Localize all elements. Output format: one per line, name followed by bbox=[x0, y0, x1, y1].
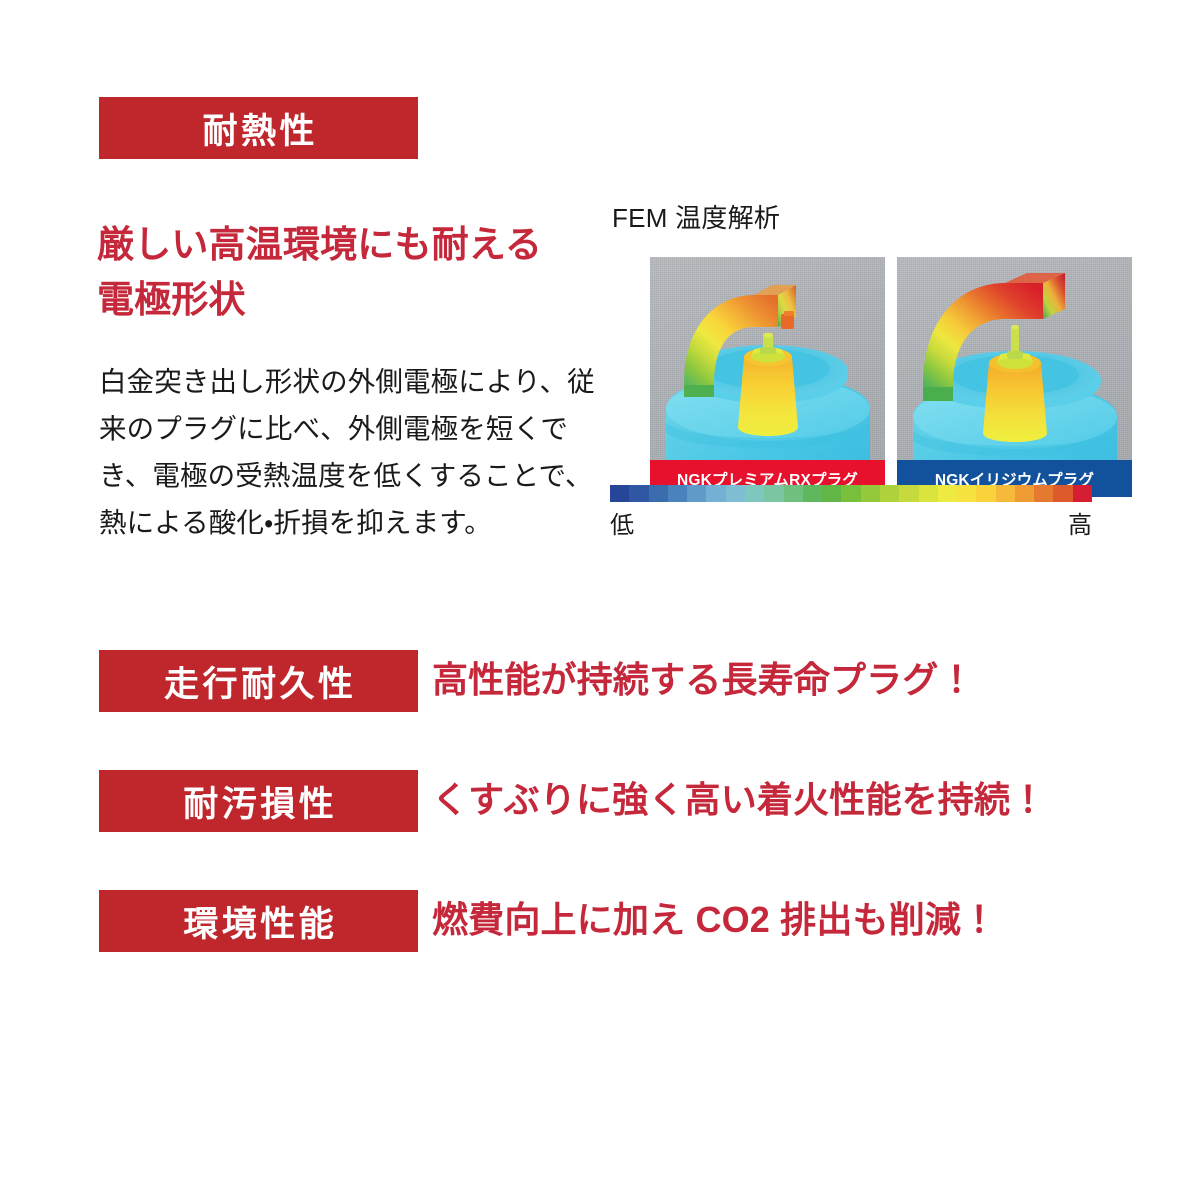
scale-segment-22 bbox=[1034, 485, 1053, 502]
heat-resistance-section: 耐熱性 厳しい高温環境にも耐える 電極形状 白金突き出し形状の外側電極により、従… bbox=[0, 0, 1200, 600]
scale-segment-23 bbox=[1053, 485, 1072, 502]
fem-card-premium-rx: NGKプレミアムRXプラグ bbox=[650, 257, 885, 497]
fem-panel-title: FEM 温度解析 bbox=[612, 198, 780, 235]
scale-segment-1 bbox=[629, 485, 648, 502]
scale-segment-3 bbox=[668, 485, 687, 502]
scale-segment-0 bbox=[610, 485, 629, 502]
scale-segment-2 bbox=[649, 485, 668, 502]
scale-segment-10 bbox=[803, 485, 822, 502]
feature-badge-driving-durability: 走行耐久性 bbox=[99, 650, 418, 712]
scale-segment-4 bbox=[687, 485, 706, 502]
feature-row: 環境性能 燃費向上に加え CO2 排出も削減！ bbox=[0, 870, 1200, 990]
feature-text-fouling-resistance: くすぶりに強く高い着火性能を持続！ bbox=[432, 768, 1046, 832]
fem-analysis-panel: FEM 温度解析 bbox=[608, 198, 1094, 530]
fem-card-iridium: NGKイリジウムプラグ bbox=[897, 257, 1132, 497]
feature-row: 耐汚損性 くすぶりに強く高い着火性能を持続！ bbox=[0, 750, 1200, 870]
temperature-scale: 低 高 bbox=[610, 485, 1092, 535]
scale-segment-12 bbox=[841, 485, 860, 502]
feature-badge-fouling-resistance: 耐汚損性 bbox=[99, 770, 418, 832]
scale-segment-24 bbox=[1073, 485, 1092, 502]
scale-segment-17 bbox=[938, 485, 957, 502]
feature-badge-environmental-performance: 環境性能 bbox=[99, 890, 418, 952]
headline-line-1: 厳しい高温環境にも耐える bbox=[97, 224, 542, 265]
scale-segment-8 bbox=[764, 485, 783, 502]
headline-line-2: 電極形状 bbox=[97, 279, 246, 320]
scale-segment-13 bbox=[861, 485, 880, 502]
feature-rows-section: 走行耐久性 高性能が持続する長寿命プラグ！ 耐汚損性 くすぶりに強く高い着火性能… bbox=[0, 630, 1200, 990]
feature-text-environmental-performance: 燃費向上に加え CO2 排出も削減！ bbox=[432, 888, 997, 952]
scale-segment-15 bbox=[899, 485, 918, 502]
temperature-gradient-bar bbox=[610, 485, 1092, 502]
scale-segment-14 bbox=[880, 485, 899, 502]
scale-segment-18 bbox=[957, 485, 976, 502]
scale-segment-5 bbox=[706, 485, 725, 502]
scale-segment-6 bbox=[726, 485, 745, 502]
section-badge-heat-resistance: 耐熱性 bbox=[99, 97, 418, 159]
scale-segment-11 bbox=[822, 485, 841, 502]
scale-label-high: 高 bbox=[1068, 505, 1092, 540]
scale-segment-7 bbox=[745, 485, 764, 502]
scale-segment-20 bbox=[996, 485, 1015, 502]
heat-resistance-headline: 厳しい高温環境にも耐える 電極形状 bbox=[97, 217, 617, 328]
scale-segment-9 bbox=[784, 485, 803, 502]
scale-segment-16 bbox=[919, 485, 938, 502]
temperature-scale-labels: 低 高 bbox=[610, 505, 1092, 535]
feature-text-driving-durability: 高性能が持続する長寿命プラグ！ bbox=[432, 648, 975, 712]
scale-label-low: 低 bbox=[610, 505, 634, 540]
feature-row: 走行耐久性 高性能が持続する長寿命プラグ！ bbox=[0, 630, 1200, 750]
heat-resistance-body-text: 白金突き出し形状の外側電極により、従来のプラグに比べ、外側電極を短くでき、電極の… bbox=[99, 358, 599, 547]
scale-segment-21 bbox=[1015, 485, 1034, 502]
scale-segment-19 bbox=[976, 485, 995, 502]
